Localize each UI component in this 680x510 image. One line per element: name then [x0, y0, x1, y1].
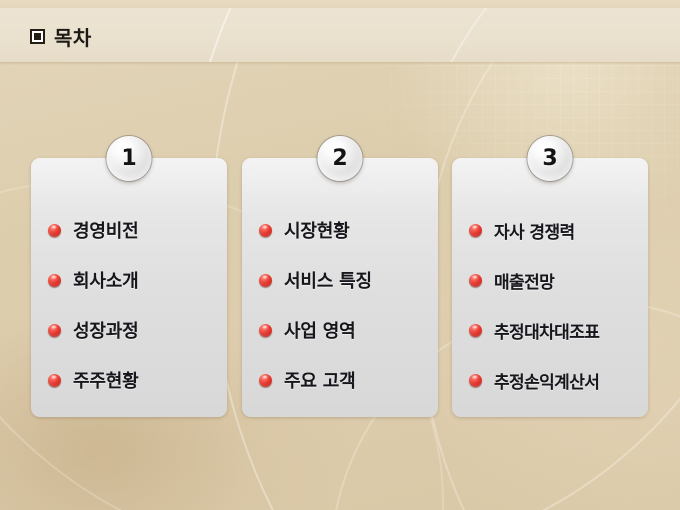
red-bullet-icon	[469, 274, 482, 287]
list-item-label: 사업 영역	[284, 317, 356, 343]
list-item-label: 성장과정	[73, 317, 138, 343]
list-item-label: 추정손익계산서	[494, 368, 599, 393]
red-bullet-icon	[259, 374, 272, 387]
column-item-list-3: 자사 경쟁력 매출전망 추정대차대조표 추정손익계산서	[452, 205, 648, 405]
content-columns: 1 경영비전 회사소개 성장과정 주주현황	[0, 0, 680, 510]
list-item[interactable]: 추정손익계산서	[469, 355, 642, 405]
list-item[interactable]: 주주현황	[48, 355, 221, 405]
column-number-badge-3: 3	[528, 136, 573, 181]
list-item[interactable]: 추정대차대조표	[469, 305, 642, 355]
list-item[interactable]: 매출전망	[469, 255, 642, 305]
content-column-1: 1 경영비전 회사소개 성장과정 주주현황	[31, 158, 227, 417]
list-item-label: 시장현황	[284, 217, 349, 243]
red-bullet-icon	[48, 274, 61, 287]
list-item[interactable]: 성장과정	[48, 305, 221, 355]
red-bullet-icon	[469, 224, 482, 237]
red-bullet-icon	[469, 324, 482, 337]
presentation-slide: 목차 1 경영비전 회사소개 성장과정	[0, 0, 680, 510]
red-bullet-icon	[469, 374, 482, 387]
list-item[interactable]: 경영비전	[48, 205, 221, 255]
red-bullet-icon	[259, 324, 272, 337]
content-column-3: 3 자사 경쟁력 매출전망 추정대차대조표 추정손익계산서	[452, 158, 648, 417]
list-item[interactable]: 주요 고객	[259, 355, 432, 405]
list-item-label: 서비스 특징	[284, 267, 372, 293]
column-number-badge-1: 1	[107, 136, 152, 181]
list-item-label: 회사소개	[73, 267, 138, 293]
list-item[interactable]: 사업 영역	[259, 305, 432, 355]
list-item-label: 경영비전	[73, 217, 138, 243]
column-item-list-2: 시장현황 서비스 특징 사업 영역 주요 고객	[242, 205, 438, 405]
red-bullet-icon	[259, 274, 272, 287]
list-item-label: 자사 경쟁력	[494, 218, 575, 243]
list-item-label: 추정대차대조표	[494, 318, 599, 343]
content-column-2: 2 시장현황 서비스 특징 사업 영역 주요 고객	[242, 158, 438, 417]
list-item[interactable]: 시장현황	[259, 205, 432, 255]
badge-number: 1	[121, 148, 136, 170]
badge-number: 2	[332, 148, 347, 170]
red-bullet-icon	[48, 374, 61, 387]
column-number-badge-2: 2	[318, 136, 363, 181]
red-bullet-icon	[259, 224, 272, 237]
list-item-label: 매출전망	[494, 268, 554, 293]
list-item-label: 주요 고객	[284, 367, 356, 393]
red-bullet-icon	[48, 324, 61, 337]
red-bullet-icon	[48, 224, 61, 237]
list-item[interactable]: 회사소개	[48, 255, 221, 305]
list-item-label: 주주현황	[73, 367, 138, 393]
list-item[interactable]: 서비스 특징	[259, 255, 432, 305]
list-item[interactable]: 자사 경쟁력	[469, 205, 642, 255]
badge-number: 3	[542, 148, 557, 170]
column-item-list-1: 경영비전 회사소개 성장과정 주주현황	[31, 205, 227, 405]
